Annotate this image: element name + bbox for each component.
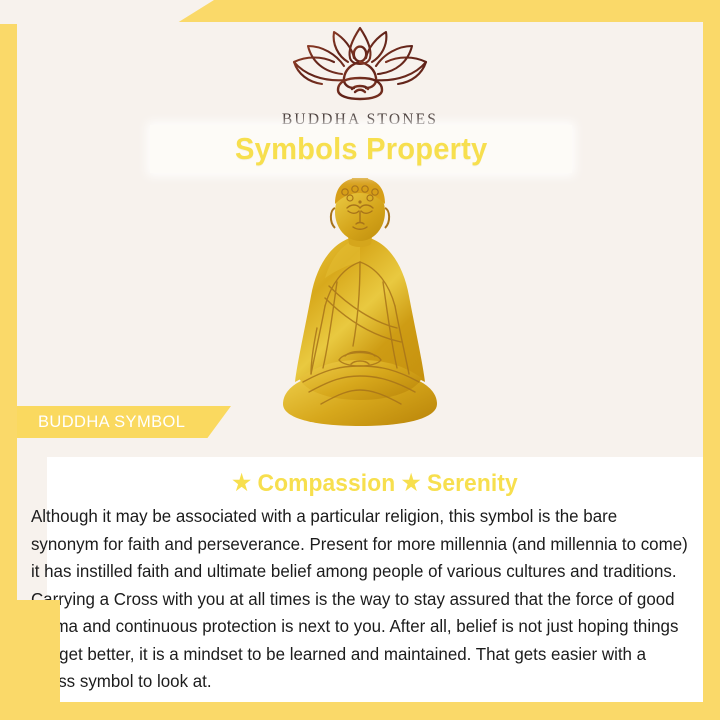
content-headline: ★ Compassion ★ Serenity bbox=[63, 470, 686, 498]
lotus-meditation-icon bbox=[276, 24, 444, 102]
body-paragraph: Although it may be associated with a par… bbox=[27, 503, 693, 696]
title-banner: Symbols Property bbox=[150, 125, 572, 173]
buddha-symbol-ribbon: BUDDHA SYMBOL bbox=[17, 406, 231, 438]
content-panel: ★ Compassion ★ Serenity Although it may … bbox=[47, 457, 703, 702]
poster-root: BUDDHA STONES Symbols Property bbox=[0, 0, 720, 720]
bottom-left-yellow-notch bbox=[0, 600, 60, 720]
headline-serenity: Serenity bbox=[427, 470, 518, 497]
page-title: Symbols Property bbox=[235, 131, 487, 167]
star-icon-right: ★ bbox=[402, 470, 421, 495]
brand-logo: BUDDHA STONES bbox=[0, 24, 720, 129]
star-icon-left: ★ bbox=[232, 470, 251, 495]
ribbon-label: BUDDHA SYMBOL bbox=[38, 413, 185, 432]
top-left-cream-wedge bbox=[0, 0, 214, 24]
headline-compassion: Compassion bbox=[258, 470, 396, 497]
seated-golden-buddha-statue bbox=[265, 178, 455, 433]
